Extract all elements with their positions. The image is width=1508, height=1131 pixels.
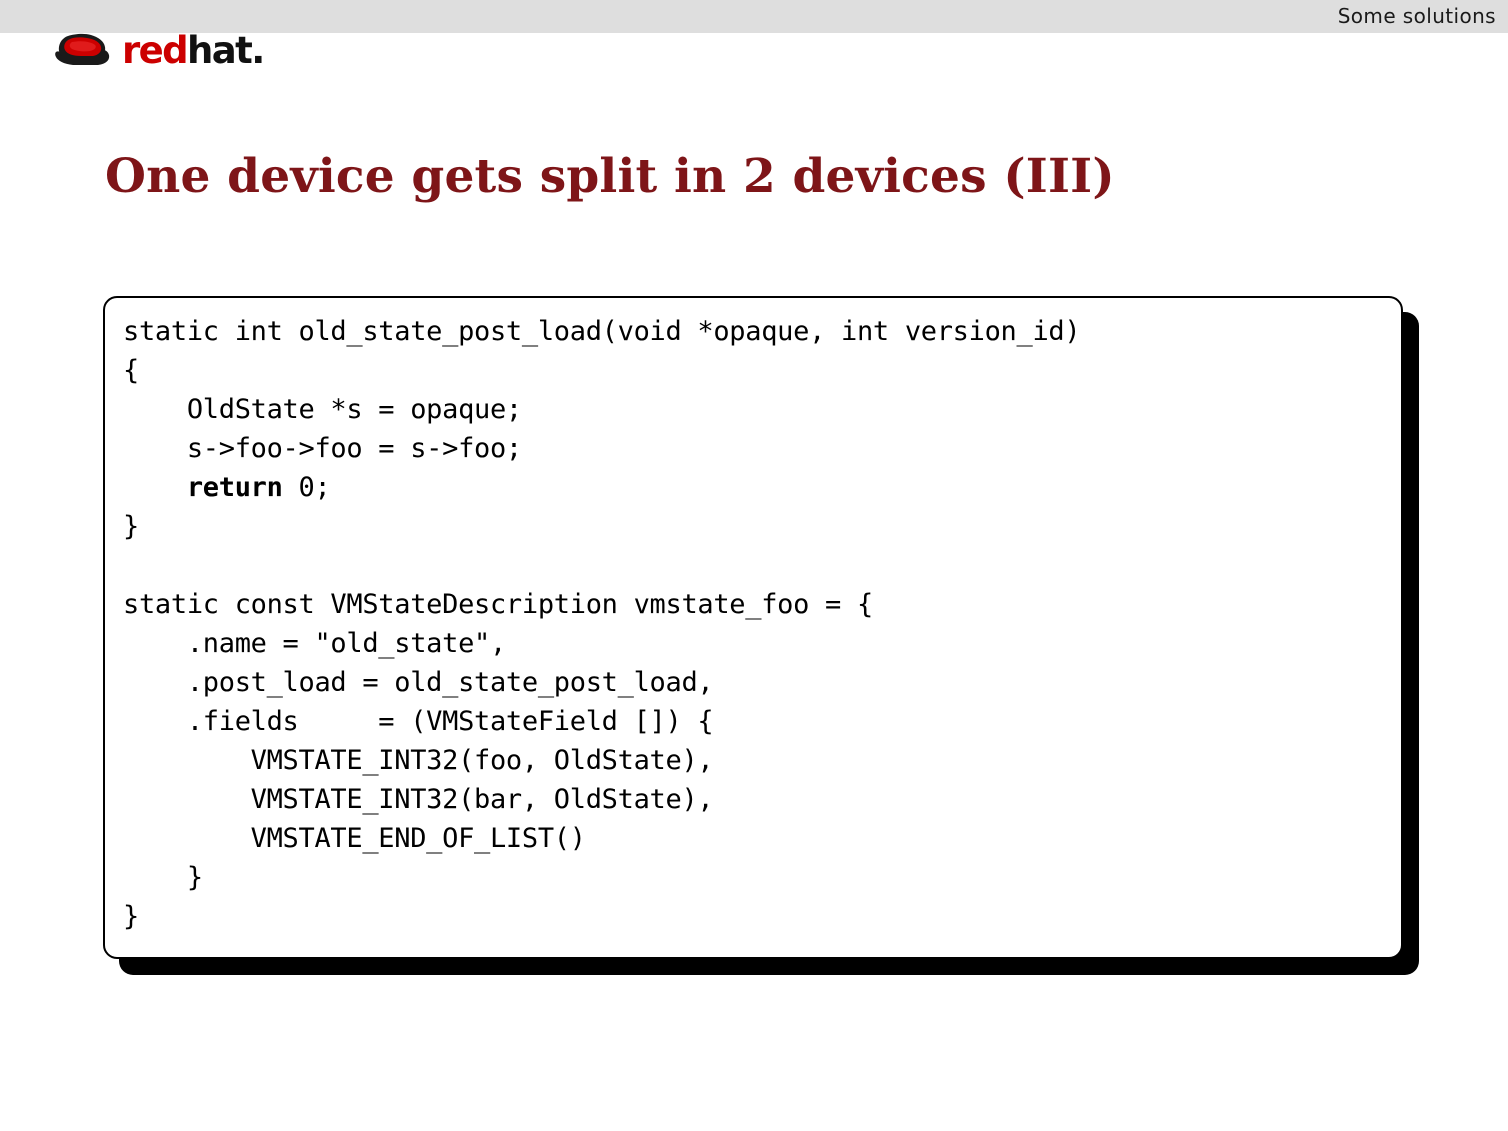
redhat-shadowman-icon [46, 26, 118, 70]
page-title: One device gets split in 2 devices (III) [105, 149, 1115, 205]
code-line: VMSTATE_INT32(bar, OldState), [123, 780, 1080, 819]
brand-wordmark-red: red [122, 29, 187, 72]
brand-wordmark: redhat. [122, 32, 264, 69]
brand-wordmark-black: hat [187, 29, 251, 72]
code-line: return 0; [123, 468, 1080, 507]
code-line: OldState *s = opaque; [123, 390, 1080, 429]
code-keyword: return [187, 472, 283, 503]
code-line: VMSTATE_INT32(foo, OldState), [123, 741, 1080, 780]
header-section-title: Some solutions [1338, 4, 1496, 28]
code-block: static int old_state_post_load(void *opa… [103, 296, 1403, 959]
code-line: static const VMStateDescription vmstate_… [123, 585, 1080, 624]
code-line: .name = "old_state", [123, 624, 1080, 663]
brand-wordmark-dot: . [251, 29, 263, 72]
code-line: } [123, 507, 1080, 546]
code-line: } [123, 858, 1080, 897]
code-line: } [123, 897, 1080, 936]
code-line: s->foo->foo = s->foo; [123, 429, 1080, 468]
code-line: .fields = (VMStateField []) { [123, 702, 1080, 741]
code-line: .post_load = old_state_post_load, [123, 663, 1080, 702]
code-line [123, 546, 1080, 585]
code-block-frame: static int old_state_post_load(void *opa… [103, 296, 1403, 959]
code-line: { [123, 351, 1080, 390]
code-line: static int old_state_post_load(void *opa… [123, 312, 1080, 351]
brand-logo: redhat. [46, 22, 264, 70]
code-line: VMSTATE_END_OF_LIST() [123, 819, 1080, 858]
code-listing: static int old_state_post_load(void *opa… [123, 312, 1080, 936]
